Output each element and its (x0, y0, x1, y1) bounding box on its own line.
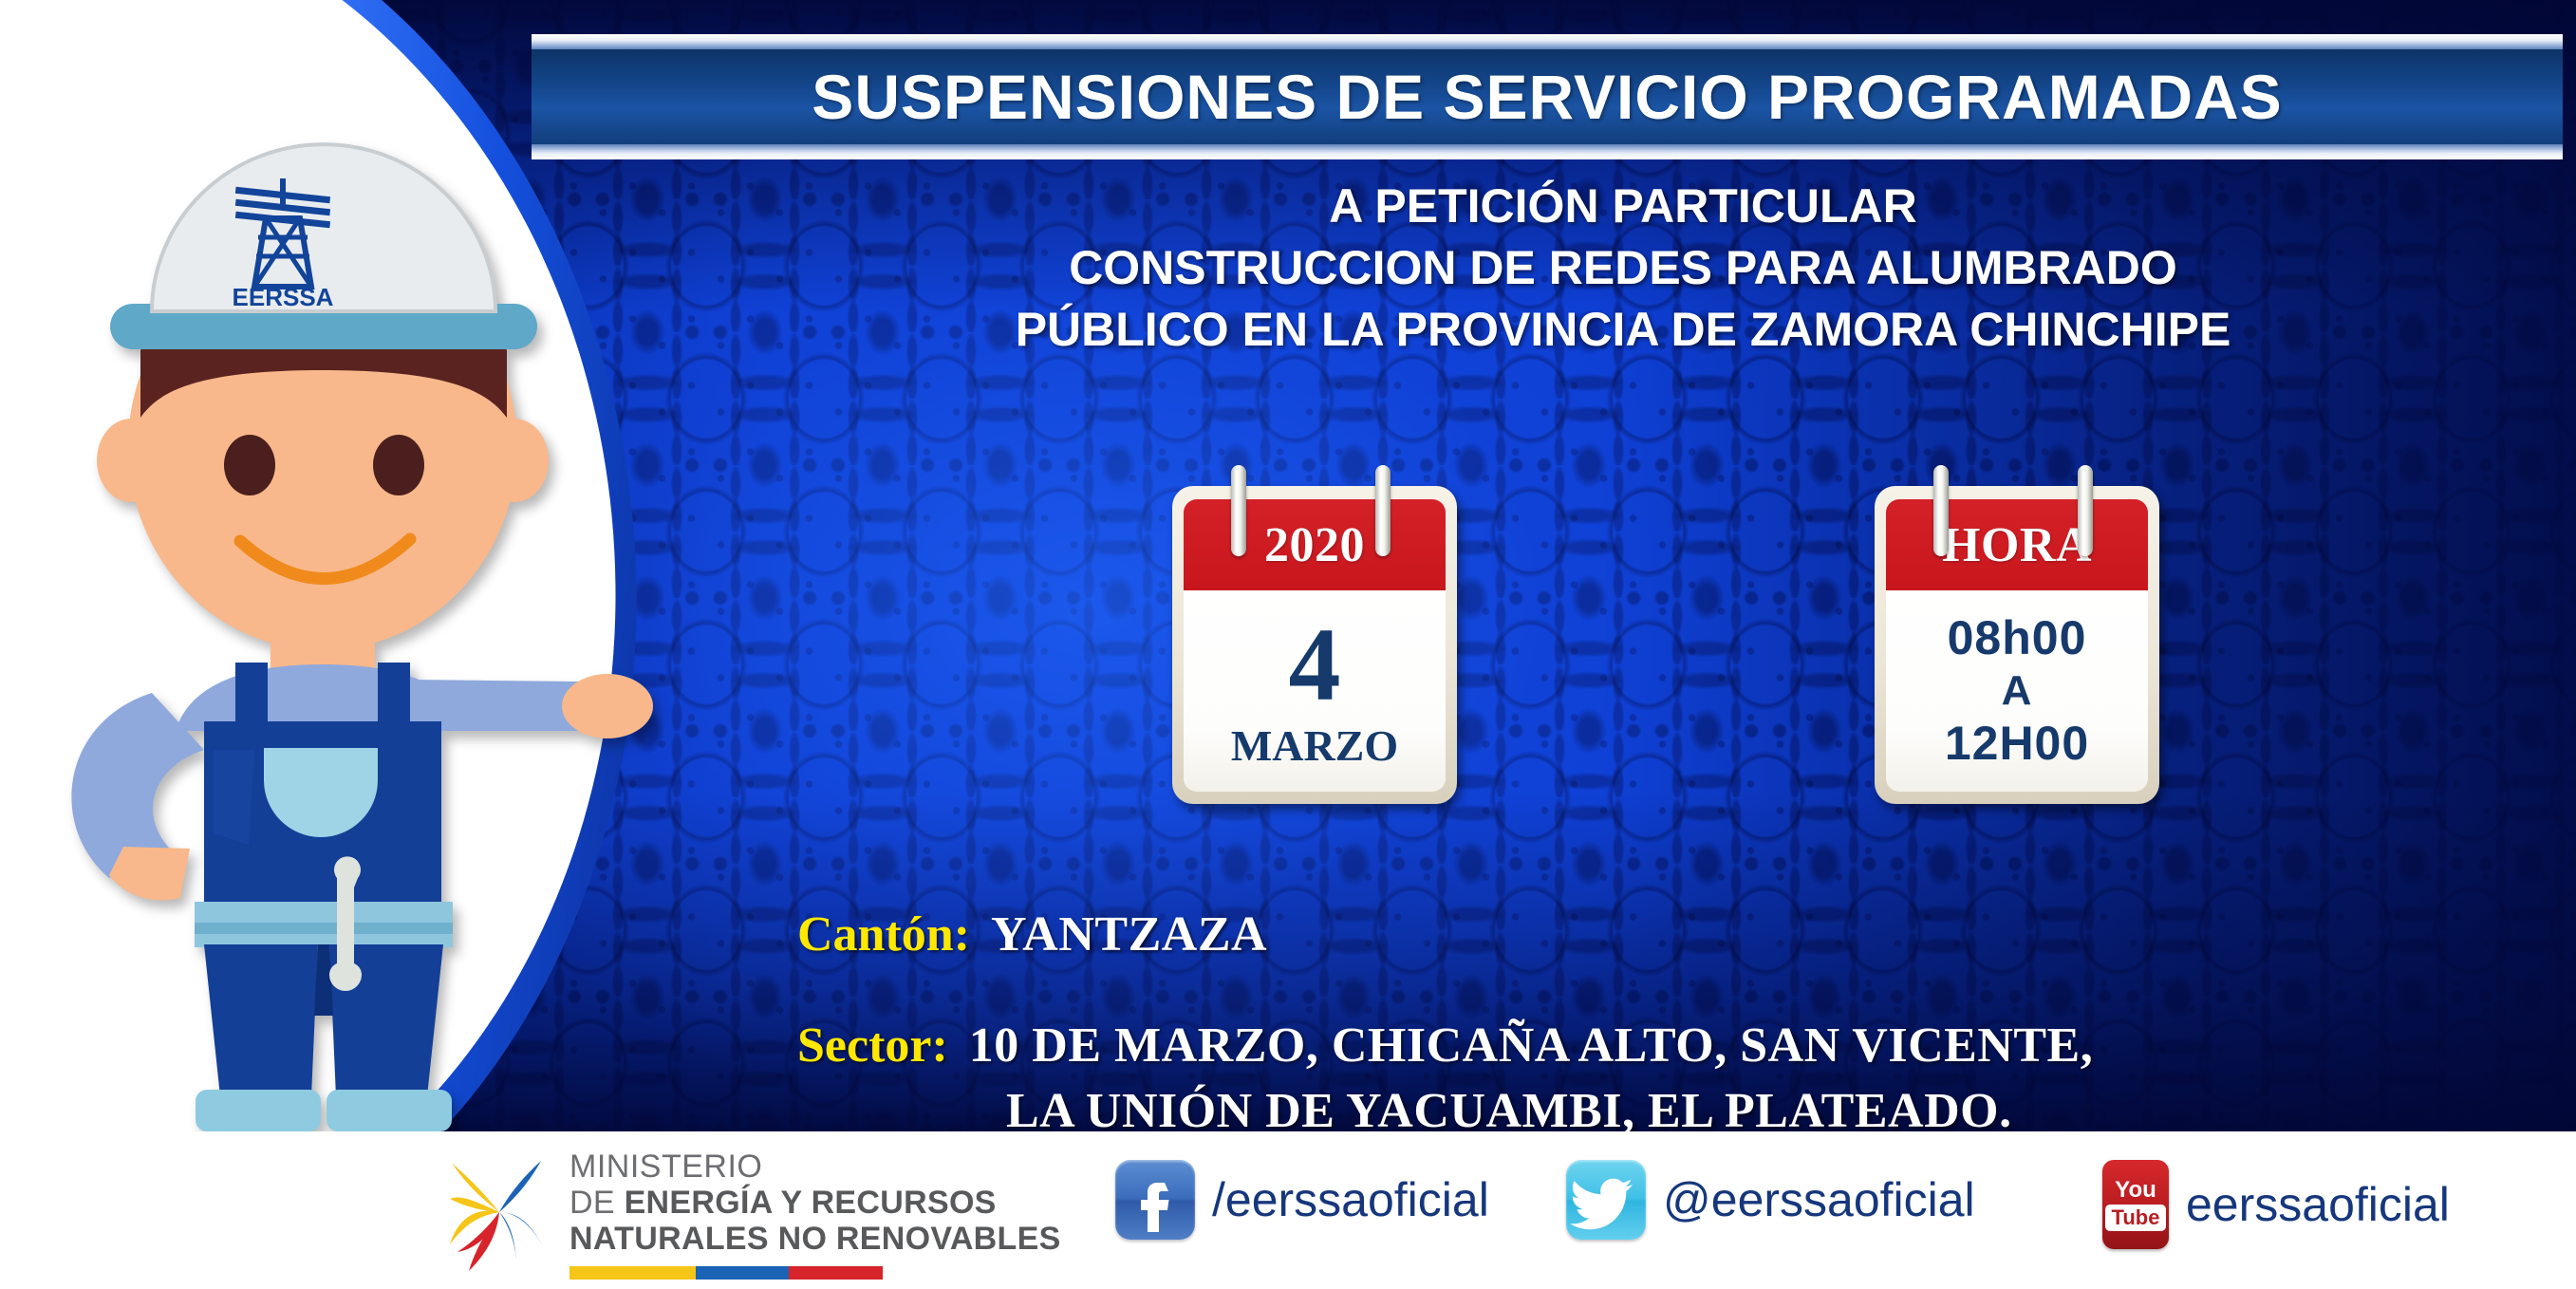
ministry-text: MINISTERIO DE ENERGÍA Y RECURSOS NATURAL… (569, 1149, 1061, 1280)
location-info-block: Cantón: YANTZAZA Sector: 10 DE MARZO, CH… (797, 906, 2534, 1139)
hour-calendar-header: HORA (1886, 499, 2148, 590)
youtube-handle[interactable]: eerssaoficial (2186, 1177, 2450, 1232)
calendar-body: 4 MARZO (1184, 590, 1446, 792)
facebook-handle[interactable]: /eerssaoficial (1212, 1172, 1489, 1227)
ecuador-flag-bar (569, 1266, 883, 1280)
subtitle-block: A PETICIÓN PARTICULAR CONSTRUCCION DE RE… (721, 176, 2525, 361)
mascot-left-hand (109, 847, 190, 901)
calendar-year: 2020 (1264, 517, 1365, 573)
twitter-icon[interactable] (1566, 1160, 1646, 1240)
flag-stripe-blue (696, 1266, 790, 1280)
hour-calendar-body: 08h00 A 12H00 (1886, 590, 2148, 792)
helmet-logo-text: EERSSA (233, 283, 334, 311)
banner-bottom-edge (532, 144, 2563, 159)
flag-stripe-red (789, 1266, 883, 1280)
sector-row: Sector: 10 DE MARZO, CHICAÑA ALTO, SAN V… (797, 1018, 2534, 1139)
page-title: SUSPENSIONES DE SERVICIO PROGRAMADAS (812, 61, 2282, 133)
hour-calendar-title: HORA (1942, 517, 2092, 573)
title-banner: SUSPENSIONES DE SERVICIO PROGRAMADAS (532, 34, 2563, 159)
calendar-month: MARZO (1231, 722, 1398, 771)
ministry-line-2-plain: DE (569, 1185, 625, 1221)
hour-calendar-icon: HORA 08h00 A 12H00 (1875, 486, 2159, 804)
mascot-ear-right (480, 419, 549, 502)
sector-label: Sector: (797, 1018, 948, 1074)
hour-start: 08h00 (1948, 610, 2087, 666)
date-calendar-icon: 2020 4 MARZO (1172, 486, 1457, 804)
mascot-illustration: EERSSA (9, 66, 674, 1139)
youtube-badge-top: You (2115, 1179, 2156, 1202)
mascot-boot-cuff-left (196, 1090, 321, 1131)
hour-calendar-ring-left (1933, 465, 1949, 556)
ministry-line-3: NATURALES NO RENOVABLES (569, 1221, 1061, 1257)
subtitle-line-2: CONSTRUCCION DE REDES PARA ALUMBRADO (721, 237, 2525, 299)
mascot-right-hand (562, 674, 653, 738)
subtitle-line-3: PÚBLICO EN LA PROVINCIA DE ZAMORA CHINCH… (721, 299, 2525, 361)
twitter-link[interactable]: @eerssaoficial (1566, 1160, 1975, 1240)
mascot-belt-stripe (195, 923, 453, 934)
mascot-leg-left (204, 944, 318, 1096)
mascot-shirt (176, 664, 470, 731)
youtube-link[interactable]: You Tube eerssaoficial (2102, 1160, 2450, 1249)
poster-canvas: EERSSA SUSPENSIONES DE SERVICIO PROGRAMA… (0, 0, 2576, 1289)
banner-top-edge (532, 34, 2563, 49)
ministry-line-1: MINISTERIO (569, 1149, 1061, 1185)
hour-separator: A (2002, 666, 2033, 716)
canton-row: Cantón: YANTZAZA (797, 906, 2534, 962)
canton-value: YANTZAZA (991, 906, 1267, 962)
calendar-header: 2020 (1184, 499, 1446, 590)
mascot-eye-right (373, 435, 424, 495)
youtube-badge-bottom: Tube (2105, 1205, 2167, 1231)
youtube-icon[interactable]: You Tube (2102, 1160, 2169, 1249)
facebook-icon[interactable] (1115, 1160, 1195, 1240)
ministry-logo: MINISTERIO DE ENERGÍA Y RECURSOS NATURAL… (446, 1149, 1061, 1280)
mascot-bib-fold (214, 750, 254, 845)
ministry-line-2: DE ENERGÍA Y RECURSOS (569, 1185, 1061, 1221)
canton-label: Cantón: (797, 906, 970, 962)
ministry-line-2-bold: ENERGÍA Y RECURSOS (625, 1185, 997, 1221)
facebook-link[interactable]: /eerssaoficial (1115, 1160, 1489, 1240)
banner-body: SUSPENSIONES DE SERVICIO PROGRAMADAS (532, 49, 2563, 144)
mascot-eye-left (224, 435, 275, 495)
twitter-handle[interactable]: @eerssaoficial (1663, 1172, 1975, 1227)
mascot-boot-cuff-right (327, 1090, 452, 1131)
hour-end: 12H00 (1945, 716, 2089, 772)
hour-calendar-ring-right (2078, 465, 2093, 556)
mascot-ear-left (97, 419, 165, 502)
sector-value-line-1: 10 DE MARZO, CHICAÑA ALTO, SAN VICENTE, (969, 1018, 2093, 1074)
flag-stripe-yellow (569, 1266, 696, 1280)
ministry-swoosh-icon (446, 1153, 552, 1275)
calendar-ring-right (1375, 465, 1391, 556)
calendar-day: 4 (1289, 612, 1341, 717)
subtitle-line-1: A PETICIÓN PARTICULAR (721, 176, 2525, 237)
calendar-ring-left (1231, 465, 1246, 556)
